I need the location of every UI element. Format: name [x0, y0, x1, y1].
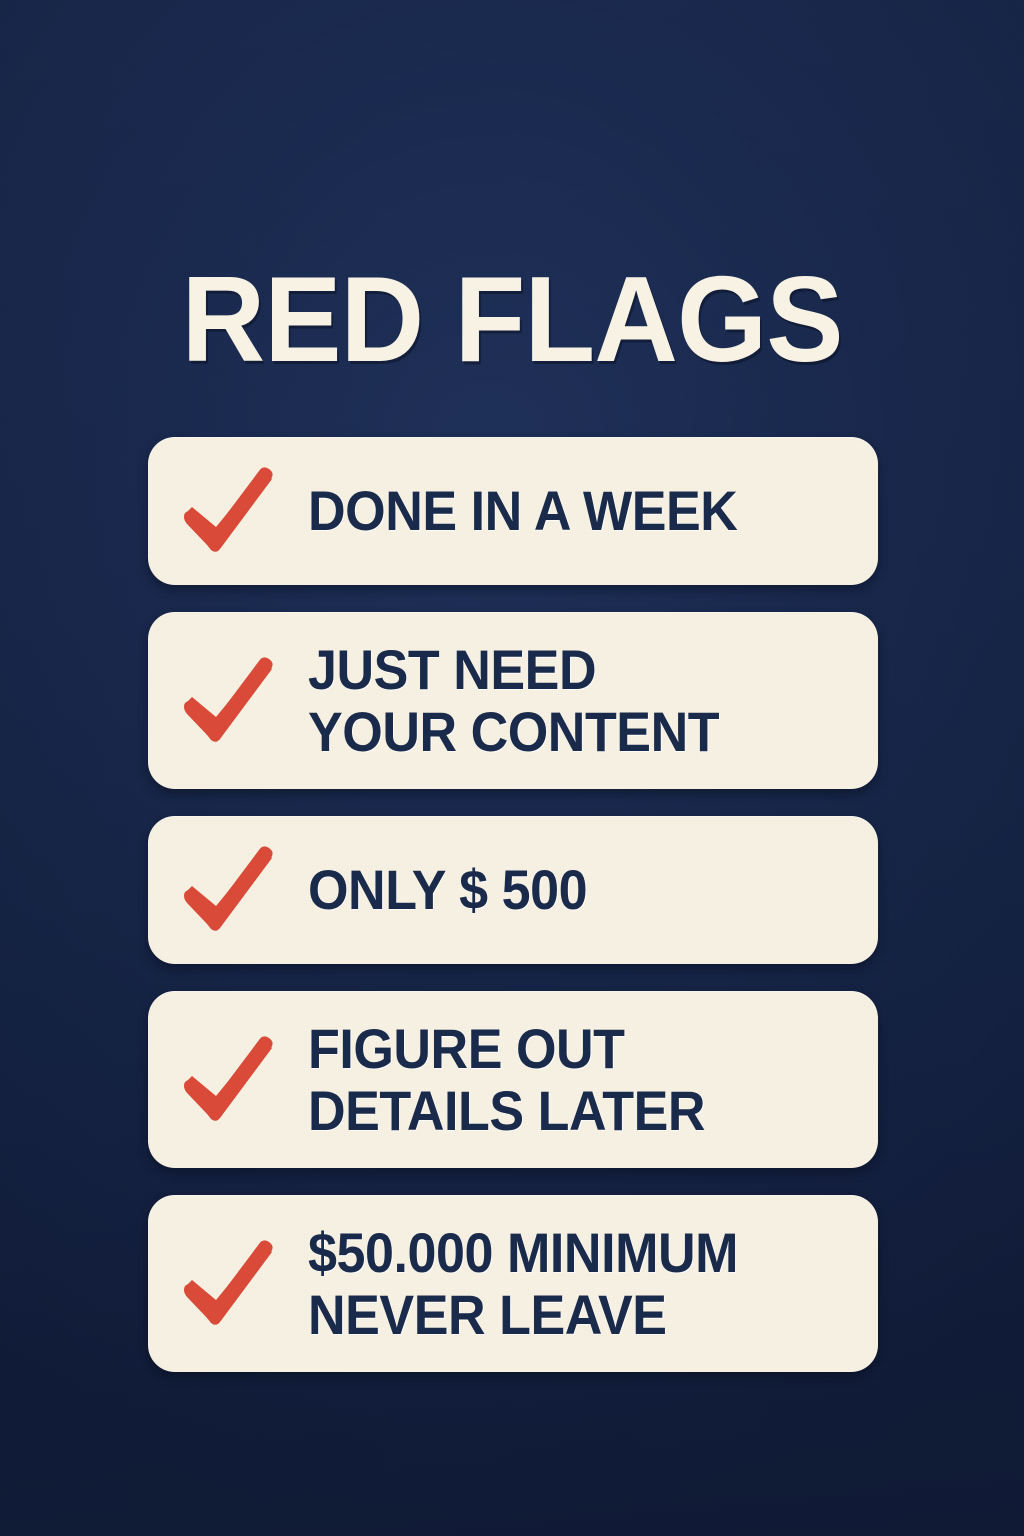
page-title: RED FLAGS [26, 258, 999, 380]
poster-content: RED FLAGS DONE IN A WEEK JUST NEED YOUR … [0, 0, 1024, 1536]
list-item[interactable]: DONE IN A WEEK [148, 437, 878, 585]
list-item-label: DONE IN A WEEK [308, 480, 838, 541]
list-item-label: FIGURE OUT DETAILS LATER [308, 1018, 838, 1140]
list-item-label: ONLY $ 500 [308, 859, 838, 920]
list-item-label: JUST NEED YOUR CONTENT [308, 639, 838, 761]
list-item[interactable]: FIGURE OUT DETAILS LATER [148, 991, 878, 1168]
list-item[interactable]: $50.000 MINIMUM NEVER LEAVE [148, 1195, 878, 1372]
red-checkmark-icon [148, 653, 308, 749]
red-checkmark-icon [148, 463, 308, 559]
red-checkmark-icon [148, 1032, 308, 1128]
red-flags-list: DONE IN A WEEK JUST NEED YOUR CONTENT ON… [148, 437, 878, 1399]
red-checkmark-icon [148, 842, 308, 938]
list-item[interactable]: JUST NEED YOUR CONTENT [148, 612, 878, 789]
list-item[interactable]: ONLY $ 500 [148, 816, 878, 964]
list-item-label: $50.000 MINIMUM NEVER LEAVE [308, 1222, 838, 1344]
red-checkmark-icon [148, 1236, 308, 1332]
